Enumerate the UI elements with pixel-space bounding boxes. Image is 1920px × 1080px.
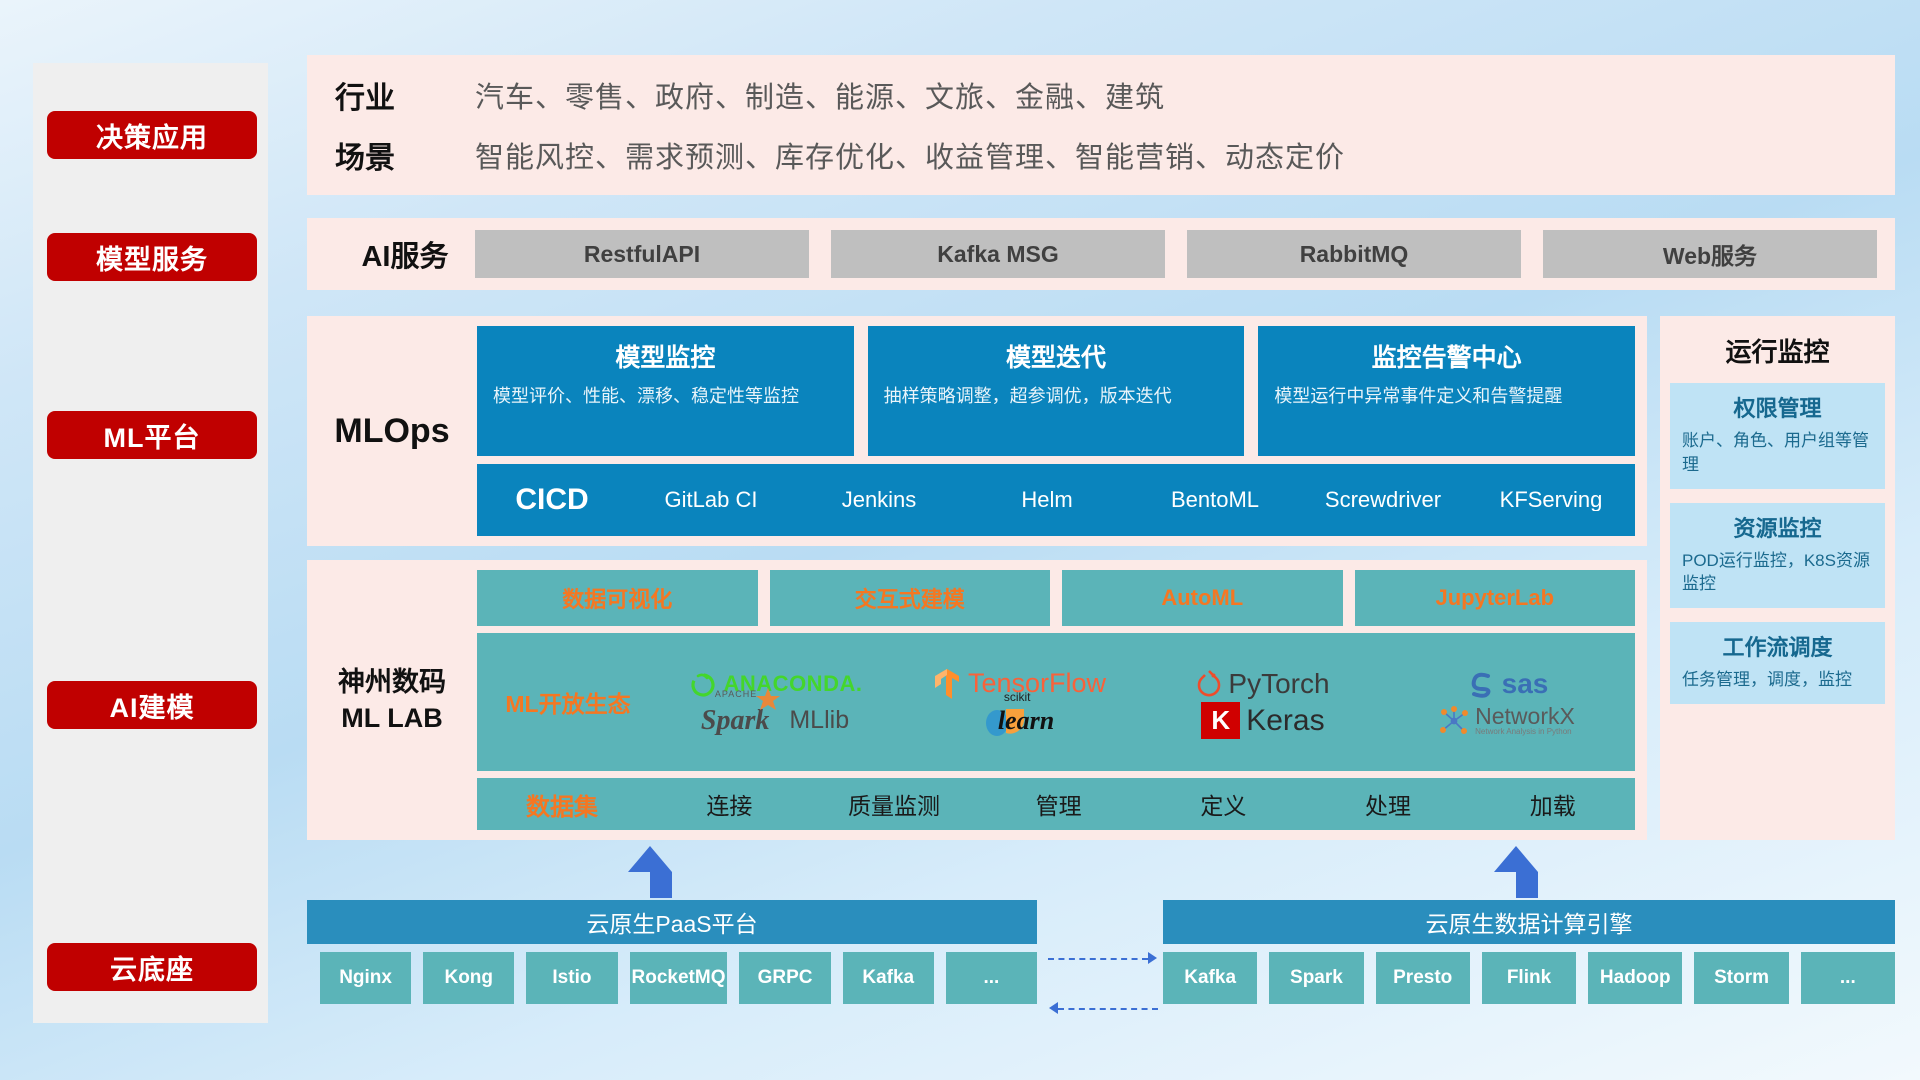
decision-application-band: 行业 汽车、零售、政府、制造、能源、文旅、金融、建筑 场景 智能风控、需求预测、…	[307, 55, 1895, 195]
service-chip-rabbitmq[interactable]: RabbitMQ	[1187, 230, 1521, 278]
ml-open-ecosystem-label: ML开放生态	[483, 685, 653, 719]
cicd-item-screwdriver[interactable]: Screwdriver	[1299, 489, 1467, 511]
engine-arrow-stem	[1516, 872, 1538, 898]
runtime-monitoring-panel: 运行监控 权限管理 账户、角色、用户组等管理 资源监控 POD运行监控，K8S资…	[1660, 316, 1895, 840]
paas-chip-kafka[interactable]: Kafka	[843, 952, 934, 1004]
card-desc: 抽样策略调整，超参调优，版本迭代	[884, 384, 1229, 408]
card-title: 模型迭代	[884, 338, 1229, 374]
card-desc: 模型运行中异常事件定义和告警提醒	[1274, 384, 1619, 408]
rail-label: AI建模	[110, 686, 195, 725]
industry-key: 行业	[335, 73, 475, 117]
card-title: 资源监控	[1682, 511, 1873, 543]
engine-chip-more[interactable]: ...	[1801, 952, 1895, 1004]
engine-chip-row: Kafka Spark Presto Flink Hadoop Storm ..…	[1163, 952, 1895, 1004]
dataset-item-load[interactable]: 加载	[1470, 787, 1635, 821]
ml-open-ecosystem-row: ML开放生态 ANACONDA.	[477, 633, 1635, 771]
card-desc: 任务管理，调度，监控	[1682, 668, 1873, 692]
service-chip-web-service[interactable]: Web服务	[1543, 230, 1877, 278]
scikit-text: scikit	[1004, 690, 1031, 704]
paas-arrow-stem	[650, 872, 672, 898]
engine-chip-kafka[interactable]: Kafka	[1163, 952, 1257, 1004]
lab-tab-jupyterlab[interactable]: JupyterLab	[1355, 570, 1636, 626]
industry-value: 汽车、零售、政府、制造、能源、文旅、金融、建筑	[475, 74, 1165, 116]
keras-wordmark: Keras	[1246, 704, 1324, 738]
learn-wordmark: learn	[998, 706, 1054, 735]
dataset-item-connect[interactable]: 连接	[647, 787, 812, 821]
cicd-label: CICD	[477, 483, 627, 517]
service-chip-kafka-msg[interactable]: Kafka MSG	[831, 230, 1165, 278]
keras-logo: K Keras	[1201, 702, 1324, 739]
cicd-item-gitlab-ci[interactable]: GitLab CI	[627, 489, 795, 511]
paas-chip-istio[interactable]: Istio	[526, 952, 617, 1004]
dashed-connector-bottom	[1058, 1008, 1158, 1010]
scikit-learn-logo: scikit learn	[984, 703, 1054, 739]
sas-logo: sas	[1466, 668, 1549, 700]
rail-item-decision-app[interactable]: 决策应用	[47, 111, 257, 159]
dataset-row: 数据集 连接 质量监测 管理 定义 处理 加载	[477, 778, 1635, 830]
paas-arrow-head-icon	[628, 846, 672, 872]
monitoring-card-permission[interactable]: 权限管理 账户、角色、用户组等管理	[1670, 383, 1885, 489]
rail-label: ML平台	[104, 416, 201, 455]
engine-chip-hadoop[interactable]: Hadoop	[1588, 952, 1682, 1004]
networkx-subtitle: Network Analysis in Python	[1475, 728, 1575, 736]
engine-arrow-head-icon	[1494, 846, 1538, 872]
monitoring-card-resource[interactable]: 资源监控 POD运行监控，K8S资源监控	[1670, 503, 1885, 609]
networkx-wordmark: NetworkX	[1475, 705, 1575, 728]
card-desc: 模型评价、性能、漂移、稳定性等监控	[493, 384, 838, 408]
engine-chip-flink[interactable]: Flink	[1482, 952, 1576, 1004]
paas-chip-rocketmq[interactable]: RocketMQ	[630, 952, 728, 1004]
ai-modeling-band: 神州数码 ML LAB 数据可视化 交互式建模 AutoML JupyterLa…	[307, 560, 1647, 840]
networkx-logo: NetworkX Network Analysis in Python	[1439, 705, 1575, 736]
card-title: 模型监控	[493, 338, 838, 374]
dataset-item-process[interactable]: 处理	[1306, 787, 1471, 821]
paas-chip-nginx[interactable]: Nginx	[320, 952, 411, 1004]
mlops-card-model-iteration[interactable]: 模型迭代 抽样策略调整，超参调优，版本迭代	[868, 326, 1245, 456]
cloud-engine-title: 云原生数据计算引擎	[1426, 905, 1633, 939]
dashed-arrow-right-icon	[1148, 952, 1157, 964]
cicd-item-kfserving[interactable]: KFServing	[1467, 489, 1635, 511]
ml-lab-label-line2: ML LAB	[307, 700, 477, 736]
cicd-bar: CICD GitLab CI Jenkins Helm BentoML Scre…	[477, 464, 1635, 536]
cicd-item-helm[interactable]: Helm	[963, 489, 1131, 511]
scenario-key: 场景	[335, 133, 475, 177]
spark-mllib-logo: APACHE Spark MLlib	[701, 705, 849, 737]
pytorch-wordmark: PyTorch	[1228, 668, 1329, 700]
paas-chip-grpc[interactable]: GRPC	[739, 952, 830, 1004]
ai-service-label: AI服务	[335, 233, 475, 275]
ml-lab-label-line1: 神州数码	[307, 664, 477, 700]
dataset-item-quality-monitor[interactable]: 质量监测	[812, 787, 977, 821]
rail-item-ml-platform[interactable]: ML平台	[47, 411, 257, 459]
paas-chip-kong[interactable]: Kong	[423, 952, 514, 1004]
engine-chip-presto[interactable]: Presto	[1376, 952, 1470, 1004]
cloud-paas-title: 云原生PaaS平台	[586, 905, 757, 939]
rail-label: 决策应用	[96, 116, 208, 155]
layer-rail: 决策应用 模型服务 ML平台 AI建模 云底座	[33, 63, 268, 1023]
rail-label: 云底座	[110, 948, 194, 987]
paas-chip-row: Nginx Kong Istio RocketMQ GRPC Kafka ...	[320, 952, 1037, 1004]
card-title: 监控告警中心	[1274, 338, 1619, 374]
industry-row: 行业 汽车、零售、政府、制造、能源、文旅、金融、建筑	[335, 73, 1895, 117]
cloud-engine-bar[interactable]: 云原生数据计算引擎	[1163, 900, 1895, 944]
monitoring-card-workflow[interactable]: 工作流调度 任务管理，调度，监控	[1670, 622, 1885, 704]
cloud-paas-bar[interactable]: 云原生PaaS平台	[307, 900, 1037, 944]
tensorflow-wordmark: TensorFlow	[968, 668, 1106, 699]
scenario-row: 场景 智能风控、需求预测、库存优化、收益管理、智能营销、动态定价	[335, 133, 1895, 177]
lab-tab-interactive-modeling[interactable]: 交互式建模	[770, 570, 1051, 626]
dashed-connector-top	[1048, 958, 1148, 960]
sas-wordmark: sas	[1502, 668, 1549, 700]
service-chip-restfulapi[interactable]: RestfulAPI	[475, 230, 809, 278]
dataset-item-define[interactable]: 定义	[1141, 787, 1306, 821]
rail-item-ai-modeling[interactable]: AI建模	[47, 681, 257, 729]
mlops-label: MLOps	[307, 412, 477, 451]
mlops-card-alert-center[interactable]: 监控告警中心 模型运行中异常事件定义和告警提醒	[1258, 326, 1635, 456]
mllib-wordmark: MLlib	[789, 706, 849, 735]
spark-apache-text: APACHE	[715, 689, 757, 699]
pytorch-logo: PyTorch	[1196, 668, 1329, 700]
mlops-card-model-monitoring[interactable]: 模型监控 模型评价、性能、漂移、稳定性等监控	[477, 326, 854, 456]
dataset-item-manage[interactable]: 管理	[976, 787, 1141, 821]
rail-item-model-service[interactable]: 模型服务	[47, 233, 257, 281]
cicd-item-bentoml[interactable]: BentoML	[1131, 489, 1299, 511]
card-desc: 账户、角色、用户组等管理	[1682, 429, 1873, 477]
paas-chip-more[interactable]: ...	[946, 952, 1037, 1004]
monitoring-title: 运行监控	[1670, 332, 1885, 369]
engine-chip-storm[interactable]: Storm	[1694, 952, 1788, 1004]
ml-lab-label: 神州数码 ML LAB	[307, 664, 477, 737]
card-title: 权限管理	[1682, 391, 1873, 423]
model-service-band: AI服务 RestfulAPI Kafka MSG RabbitMQ Web服务	[307, 218, 1895, 290]
lab-tab-data-visualization[interactable]: 数据可视化	[477, 570, 758, 626]
lab-tab-automl[interactable]: AutoML	[1062, 570, 1343, 626]
rail-label: 模型服务	[96, 238, 208, 277]
architecture-diagram: 决策应用 模型服务 ML平台 AI建模 云底座 行业 汽车、零售、政府、制造、能…	[0, 0, 1920, 1080]
engine-chip-spark[interactable]: Spark	[1269, 952, 1363, 1004]
card-desc: POD运行监控，K8S资源监控	[1682, 549, 1873, 597]
rail-item-cloud-base[interactable]: 云底座	[47, 943, 257, 991]
dashed-arrow-left-icon	[1049, 1002, 1058, 1014]
keras-mark: K	[1201, 702, 1240, 739]
ml-platform-band: MLOps 模型监控 模型评价、性能、漂移、稳定性等监控 模型迭代 抽样策略调整…	[307, 316, 1647, 546]
cicd-item-jenkins[interactable]: Jenkins	[795, 489, 963, 511]
dataset-label: 数据集	[477, 787, 647, 822]
scenario-value: 智能风控、需求预测、库存优化、收益管理、智能营销、动态定价	[475, 134, 1345, 176]
card-title: 工作流调度	[1682, 630, 1873, 662]
